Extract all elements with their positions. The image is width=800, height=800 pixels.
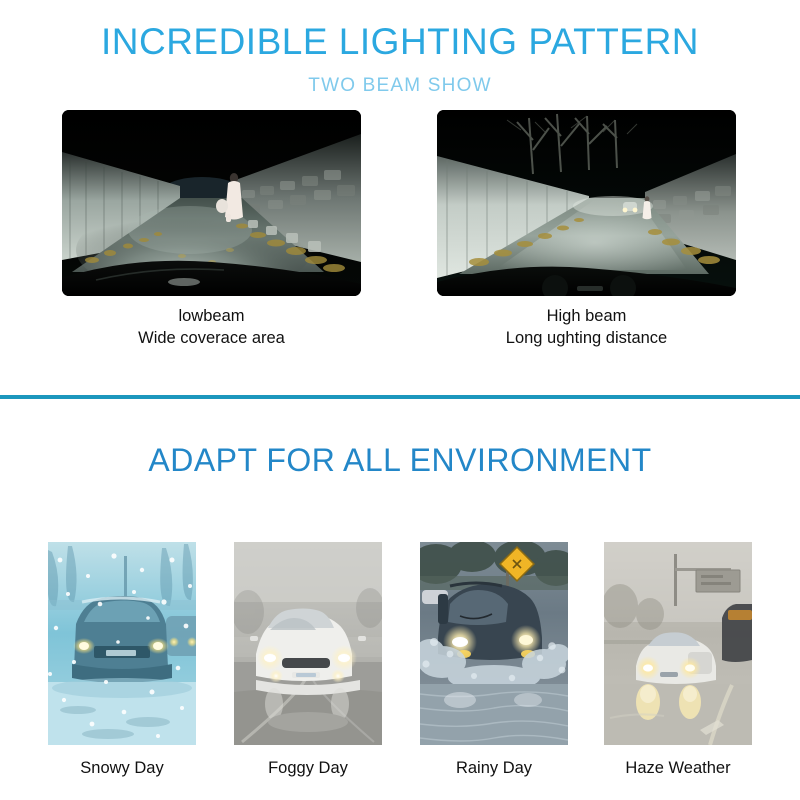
weather-card-snowy: Snowy Day: [48, 542, 196, 779]
beam-caption-line1: lowbeam: [62, 306, 361, 328]
distant-vehicle: [623, 202, 638, 212]
weather-caption-rainy: Rainy Day: [420, 759, 568, 779]
weather-card-foggy: Foggy Day: [234, 542, 382, 779]
foggy-day-photo: [234, 542, 382, 745]
beam-card-lowbeam: lowbeam Wide coverace area: [62, 110, 361, 296]
section-divider: [0, 395, 800, 399]
rainy-day-photo: [420, 542, 568, 745]
lowbeam-night-road-photo: [62, 110, 361, 296]
beam-caption-highbeam: High beam Long ughting distance: [437, 306, 736, 350]
beam-caption-line2: Long ughting distance: [437, 328, 736, 350]
page-title: INCREDIBLE LIGHTING PATTERN: [0, 22, 800, 63]
beam-caption-line2: Wide coverace area: [62, 328, 361, 350]
weather-caption-foggy: Foggy Day: [234, 759, 382, 779]
section2-title: ADAPT FOR ALL ENVIRONMENT: [0, 443, 800, 478]
weather-card-haze: Haze Weather: [604, 542, 752, 779]
beam-card-highbeam: High beam Long ughting distance: [437, 110, 736, 296]
haze-weather-photo: [604, 542, 752, 745]
product-feature-page: INCREDIBLE LIGHTING PATTERN TWO BEAM SHO…: [0, 0, 800, 800]
beam-caption-line1: High beam: [437, 306, 736, 328]
highbeam-night-road-photo: [437, 110, 736, 296]
weather-caption-haze: Haze Weather: [600, 759, 756, 779]
weather-conditions-row: Snowy Day: [0, 542, 800, 782]
beam-comparison-row: lowbeam Wide coverace area: [0, 110, 800, 310]
weather-card-rainy: Rainy Day: [420, 542, 568, 779]
snowy-day-photo: [48, 542, 196, 745]
beam-caption-lowbeam: lowbeam Wide coverace area: [62, 306, 361, 350]
weather-caption-snowy: Snowy Day: [48, 759, 196, 779]
page-subtitle: TWO BEAM SHOW: [0, 76, 800, 97]
